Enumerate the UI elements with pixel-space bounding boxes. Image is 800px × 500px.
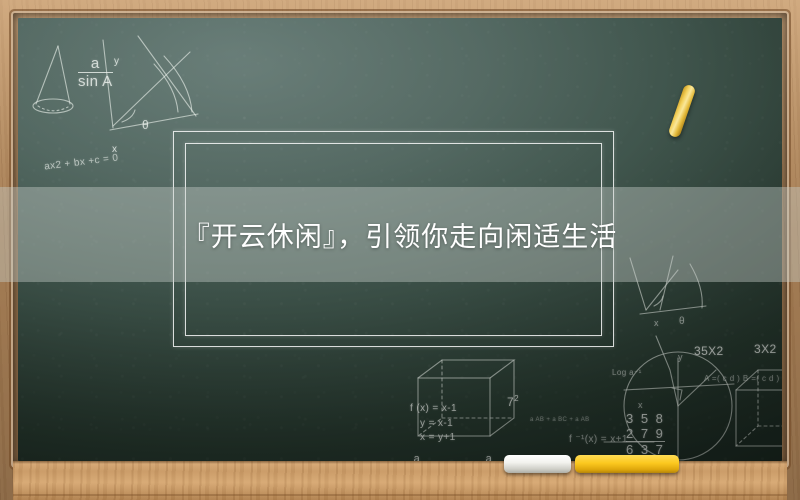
cube-drawing-center (418, 360, 514, 436)
vector-sum-note: a AB + a BC + a AB (530, 417, 590, 423)
function-definitions: f (x) = x-1 y = x-1 x = y+1 (410, 402, 457, 446)
column-addition: 3 5 8 2 7 9 6 3 7 (626, 412, 665, 458)
angle-label-topright: θ (679, 316, 685, 327)
cone-drawing (33, 46, 73, 113)
quadratic-equation: ax2 + bx +c = 0 (44, 152, 119, 172)
circle-diagram (624, 336, 734, 460)
power-seven: 72 (507, 394, 519, 409)
sine-rule-fraction-topleft: a sin A (78, 56, 113, 90)
axis-label-x-bottomright: x (638, 400, 643, 410)
cube-drawing-right (736, 370, 782, 446)
sine-rule-fraction-bottomleft: a sin A (404, 454, 430, 461)
axis-label-y-bottomright: y (678, 352, 683, 362)
axis-label-x-topleft: x (112, 144, 117, 155)
multiplication-35x2: 35X2 (694, 344, 724, 358)
angle-diagram-left (103, 36, 198, 130)
axis-label-y-topleft: y (114, 56, 119, 67)
inverse-function: f ⁻¹(x) = x+1 (569, 434, 628, 445)
chalk-stick-white (504, 455, 571, 473)
sine-rule-fraction-bottommid: a sin A (476, 454, 502, 461)
multiplication-3x2: 3X2 (754, 342, 777, 356)
axis-label-x-topright: x (654, 318, 659, 328)
matrix-row: A =( c d ) B =( c d ) I =( c d ) (704, 374, 782, 383)
page-title: 『开云休闲』，引领你走向闲适生活 (0, 187, 800, 282)
log-note: Log a⁻¹ (612, 368, 642, 377)
blackboard-banner: a sin A ax2 + bx +c = 0 y x θ x θ f (x) … (0, 0, 800, 500)
angle-label-topleft: θ (142, 118, 149, 132)
chalk-stick-yellow (575, 455, 679, 473)
